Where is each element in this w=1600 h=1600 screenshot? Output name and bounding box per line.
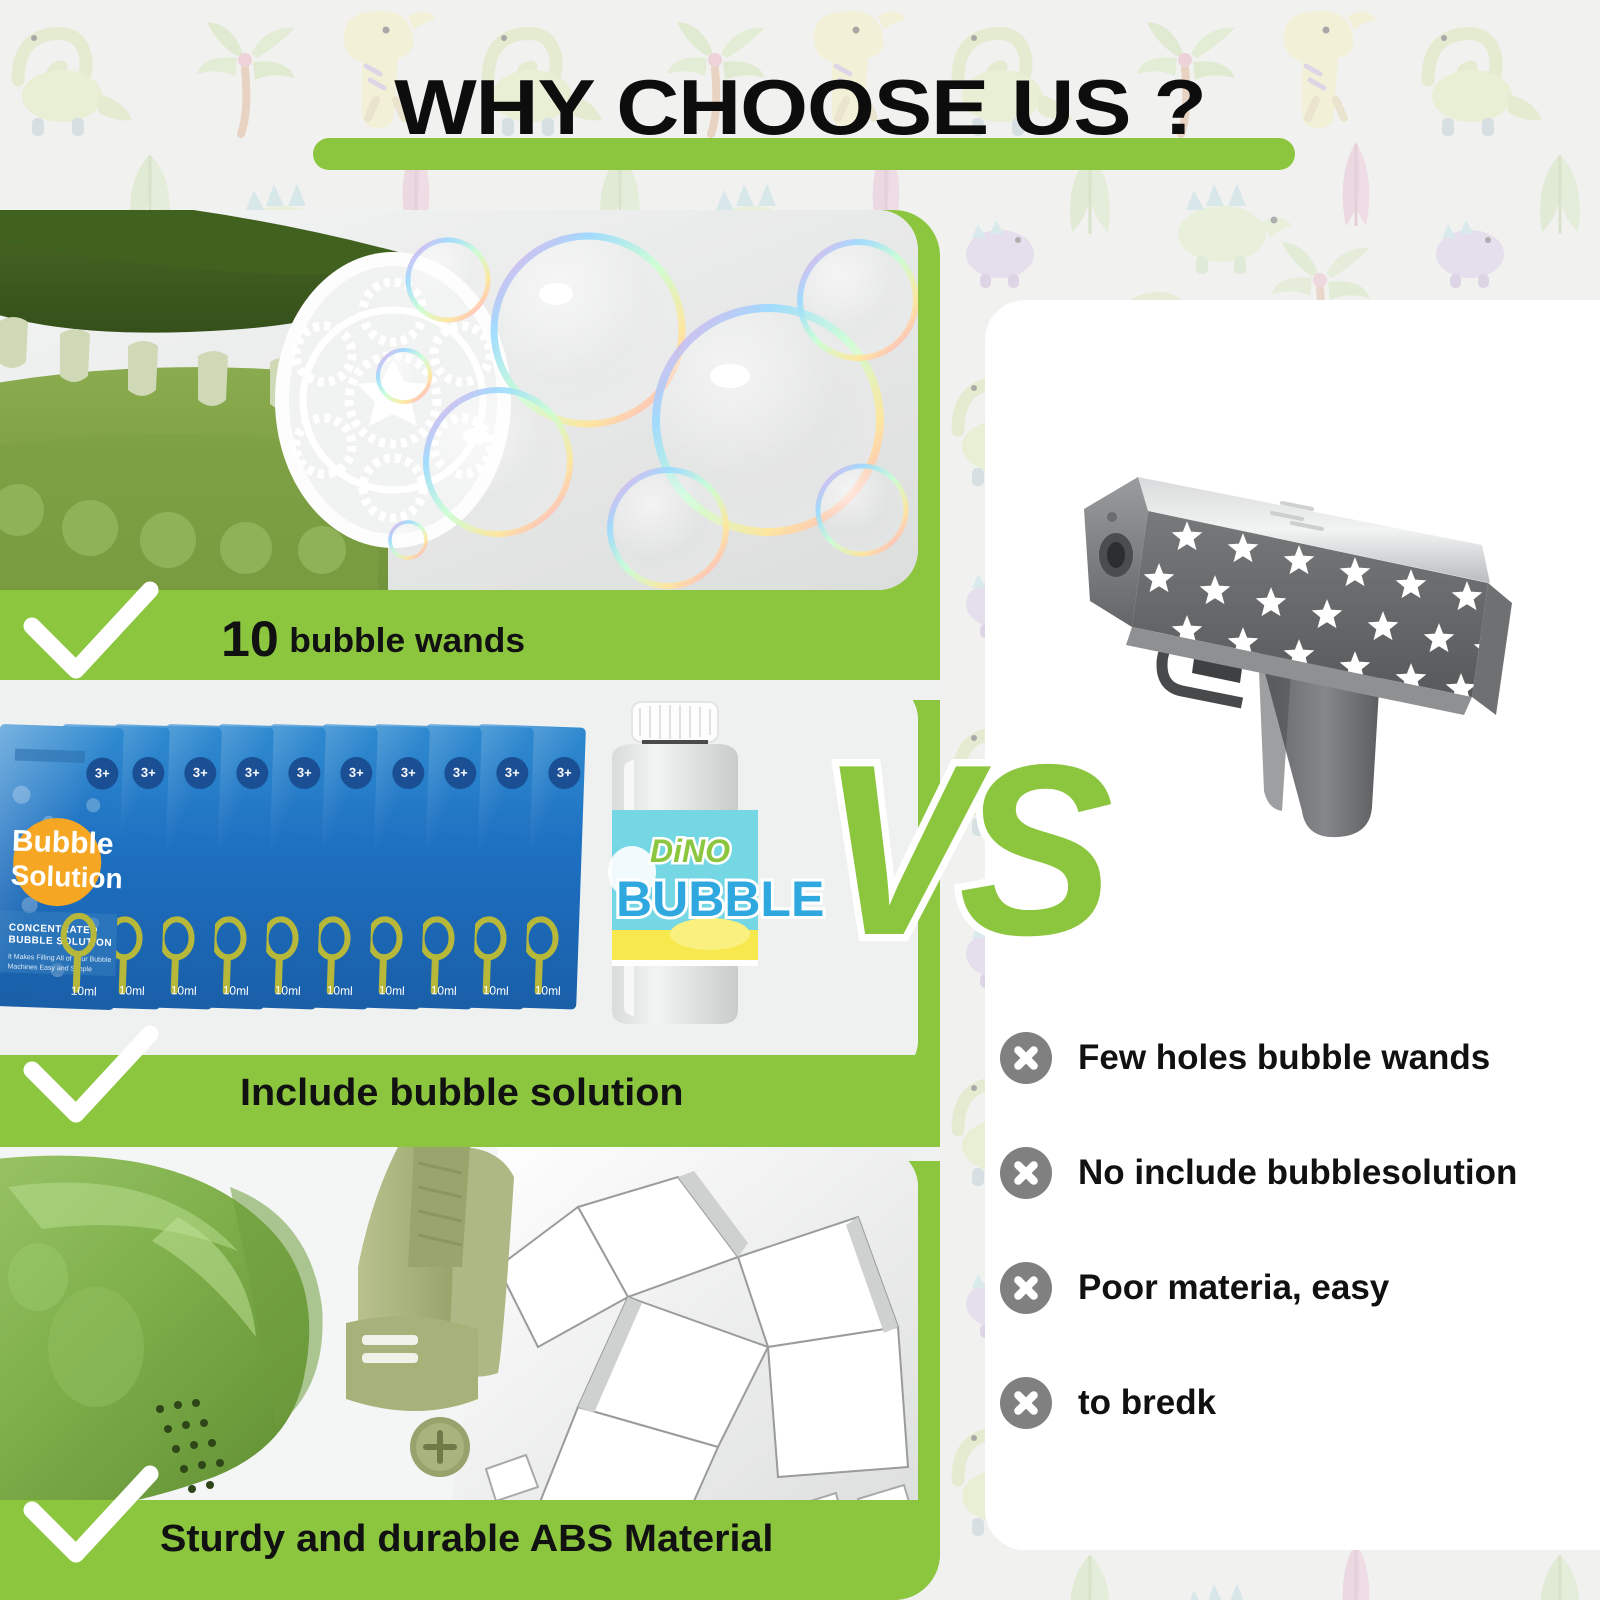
svg-text:10ml: 10ml bbox=[327, 983, 353, 998]
svg-text:Bubble: Bubble bbox=[11, 824, 114, 861]
list-item: to bredk bbox=[1000, 1345, 1600, 1460]
svg-text:10ml: 10ml bbox=[379, 983, 405, 998]
svg-text:10ml: 10ml bbox=[119, 983, 145, 998]
svg-text:10ml: 10ml bbox=[535, 983, 561, 998]
svg-text:10ml: 10ml bbox=[70, 984, 96, 999]
svg-text:3+: 3+ bbox=[505, 765, 521, 781]
svg-text:3+: 3+ bbox=[453, 765, 469, 781]
con-label: Few holes bubble wands bbox=[1078, 1038, 1490, 1078]
svg-text:3+: 3+ bbox=[95, 765, 111, 781]
svg-text:3+: 3+ bbox=[401, 765, 417, 781]
header: WHY CHOOSE US ? bbox=[0, 48, 1600, 178]
pro-label-3: Sturdy and durable ABS Material bbox=[160, 1518, 773, 1561]
check-icon bbox=[18, 1462, 166, 1577]
pro-label-1-text: bubble wands bbox=[289, 622, 525, 660]
svg-text:10ml: 10ml bbox=[483, 983, 509, 998]
con-label: to bredk bbox=[1078, 1383, 1216, 1423]
check-icon bbox=[18, 1022, 166, 1137]
svg-text:10ml: 10ml bbox=[275, 983, 301, 998]
cross-icon bbox=[1000, 1032, 1052, 1084]
bubble-solution-photo: 3+ le on 10ml 3+ le on 10ml bbox=[0, 680, 918, 1080]
svg-text:3+: 3+ bbox=[349, 765, 365, 781]
list-item: Poor materia, easy bbox=[1000, 1230, 1600, 1345]
svg-text:3+: 3+ bbox=[141, 765, 157, 781]
list-item: No include bubblesolution bbox=[1000, 1115, 1600, 1230]
versus-label: VS bbox=[820, 729, 1097, 973]
svg-text:3+: 3+ bbox=[297, 765, 313, 781]
svg-text:10ml: 10ml bbox=[431, 983, 457, 998]
cross-icon bbox=[1000, 1377, 1052, 1429]
bubble-wands-photo bbox=[0, 210, 918, 590]
con-label: No include bubblesolution bbox=[1078, 1153, 1517, 1193]
svg-text:3+: 3+ bbox=[245, 765, 261, 781]
versus-text: VS bbox=[820, 729, 1097, 973]
con-label: Poor materia, easy bbox=[1078, 1268, 1389, 1308]
svg-text:DiNO: DiNO bbox=[650, 833, 730, 869]
page-title: WHY CHOOSE US ? bbox=[0, 68, 1600, 146]
svg-text:10ml: 10ml bbox=[223, 983, 249, 998]
svg-text:BUBBLE: BUBBLE bbox=[616, 871, 824, 927]
competitor-bubble-gun-image bbox=[1020, 415, 1540, 885]
cons-list: Few holes bubble wands No include bubble… bbox=[1000, 1000, 1600, 1460]
pro-label-2: Include bubble solution bbox=[240, 1072, 683, 1115]
pros-panel: 10bubble wands bbox=[0, 210, 940, 1600]
svg-text:Solution: Solution bbox=[10, 859, 123, 894]
cross-icon bbox=[1000, 1147, 1052, 1199]
svg-text:10ml: 10ml bbox=[171, 983, 197, 998]
cross-icon bbox=[1000, 1262, 1052, 1314]
check-icon bbox=[18, 578, 166, 693]
pro-label-1: 10bubble wands bbox=[221, 610, 525, 668]
svg-text:3+: 3+ bbox=[557, 765, 573, 781]
wand-count: 10 bbox=[221, 611, 279, 667]
list-item: Few holes bubble wands bbox=[1000, 1000, 1600, 1115]
svg-text:3+: 3+ bbox=[193, 765, 209, 781]
